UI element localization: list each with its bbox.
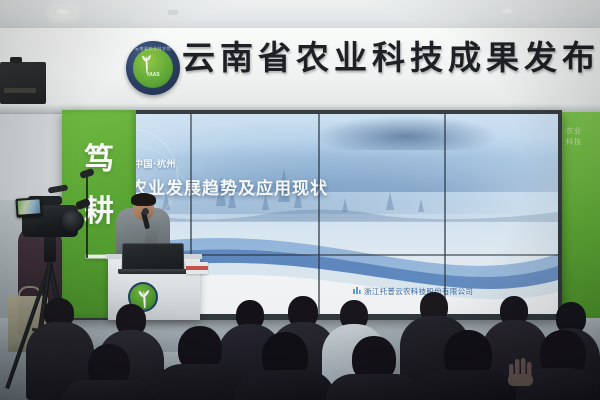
venue-emblem-icon: 云南省农业科学院 YAAS xyxy=(126,41,180,95)
camera-lens-icon xyxy=(62,210,84,232)
speaker-grille xyxy=(4,88,36,93)
slide-location-label: 中国·杭州 xyxy=(134,157,176,170)
slide-company-name: 浙江托普云农科技股份有限公司 xyxy=(364,286,473,297)
emblem-abbreviation: YAAS xyxy=(143,72,163,78)
podium-sprout-icon xyxy=(137,289,151,308)
videowall-seam-v2 xyxy=(318,114,320,314)
raised-hand-icon xyxy=(506,352,536,386)
laptop-screen xyxy=(122,243,185,271)
ceiling-spotlight-icon xyxy=(52,7,74,16)
conference-photo: 云南省农业科学院 YAAS 云南省农业科技成果发布厅 农业科技 xyxy=(0,0,600,400)
laptop-base xyxy=(118,269,188,274)
banner-right-text: 农业科技 xyxy=(566,126,582,148)
microphone-stand xyxy=(86,176,88,258)
ceiling-vent xyxy=(168,10,178,15)
camera-lcd-preview xyxy=(18,199,41,215)
podium-papers-red-band xyxy=(186,266,208,270)
banner-char-1: 笃 xyxy=(62,134,136,178)
tripod-column xyxy=(44,236,56,262)
venue-wall-title: 云南省农业科技成果发布厅 xyxy=(182,38,600,78)
emblem-sprout-icon xyxy=(141,53,152,73)
company-logo-icon xyxy=(352,286,361,295)
ceiling-spotlight-secondary-icon xyxy=(500,8,514,14)
ceiling xyxy=(0,0,600,30)
wall-speaker-icon xyxy=(0,62,46,104)
microphone-head xyxy=(142,208,149,215)
speaker-mount xyxy=(10,57,22,63)
videowall-seam-v3 xyxy=(444,114,446,314)
